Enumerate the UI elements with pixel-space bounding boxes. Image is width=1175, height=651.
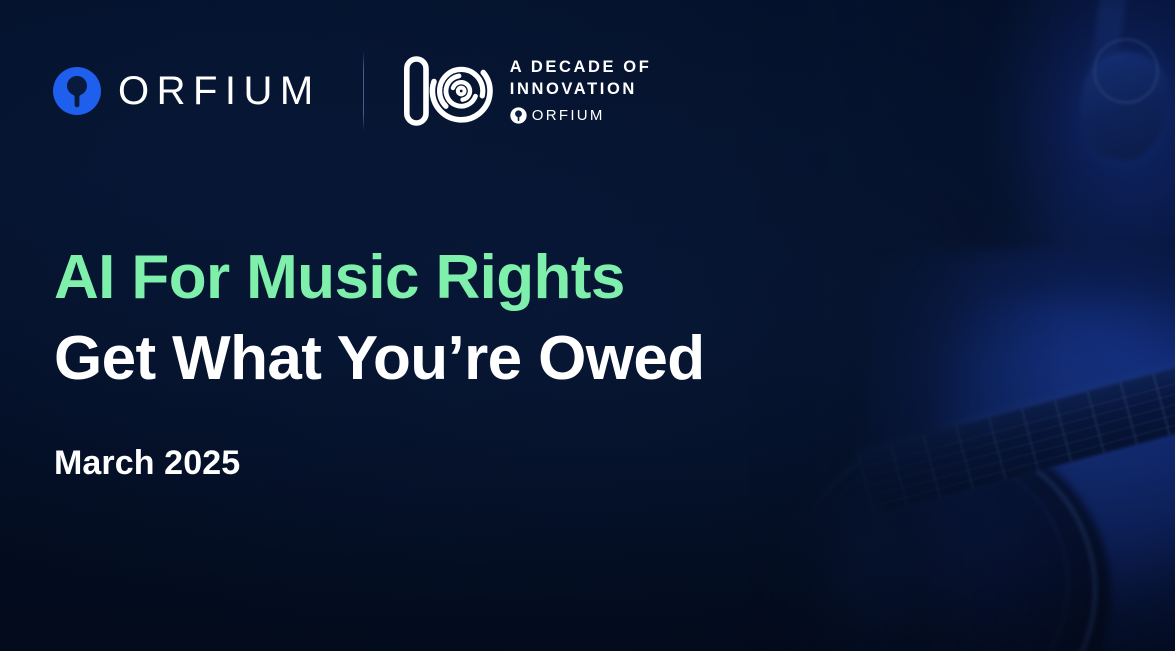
orfium-logo-mark-small	[510, 107, 527, 124]
decade-orfium-lockup: ORFIUM	[510, 107, 652, 124]
page-title-line-1: AI For Music Rights	[54, 238, 894, 319]
decade-line-2: INNOVATION	[510, 80, 652, 98]
headline-block: AI For Music Rights Get What You’re Owed	[54, 238, 894, 399]
orfium-brand-lockup[interactable]: ORFIUM	[52, 66, 321, 116]
decade-line-1: A DECADE OF	[510, 58, 652, 76]
header-divider	[363, 52, 364, 130]
decade-of-innovation-badge[interactable]: A DECADE OF INNOVATION ORFIUM	[402, 51, 652, 131]
orfium-wordmark: ORFIUM	[116, 71, 321, 111]
decade-orfium-wordmark: ORFIUM	[532, 108, 605, 123]
header: ORFIUM A DECADE OF INNOVATION	[52, 52, 651, 130]
decade-text-block: A DECADE OF INNOVATION ORFIUM	[510, 58, 652, 125]
presentation-date: March 2025	[54, 444, 240, 483]
orfium-logo-mark	[52, 66, 102, 116]
page-title-line-2: Get What You’re Owed	[54, 319, 894, 400]
decade-of-innovation-mark	[402, 51, 494, 131]
title-slide: ORFIUM A DECADE OF INNOVATION	[0, 0, 1175, 651]
